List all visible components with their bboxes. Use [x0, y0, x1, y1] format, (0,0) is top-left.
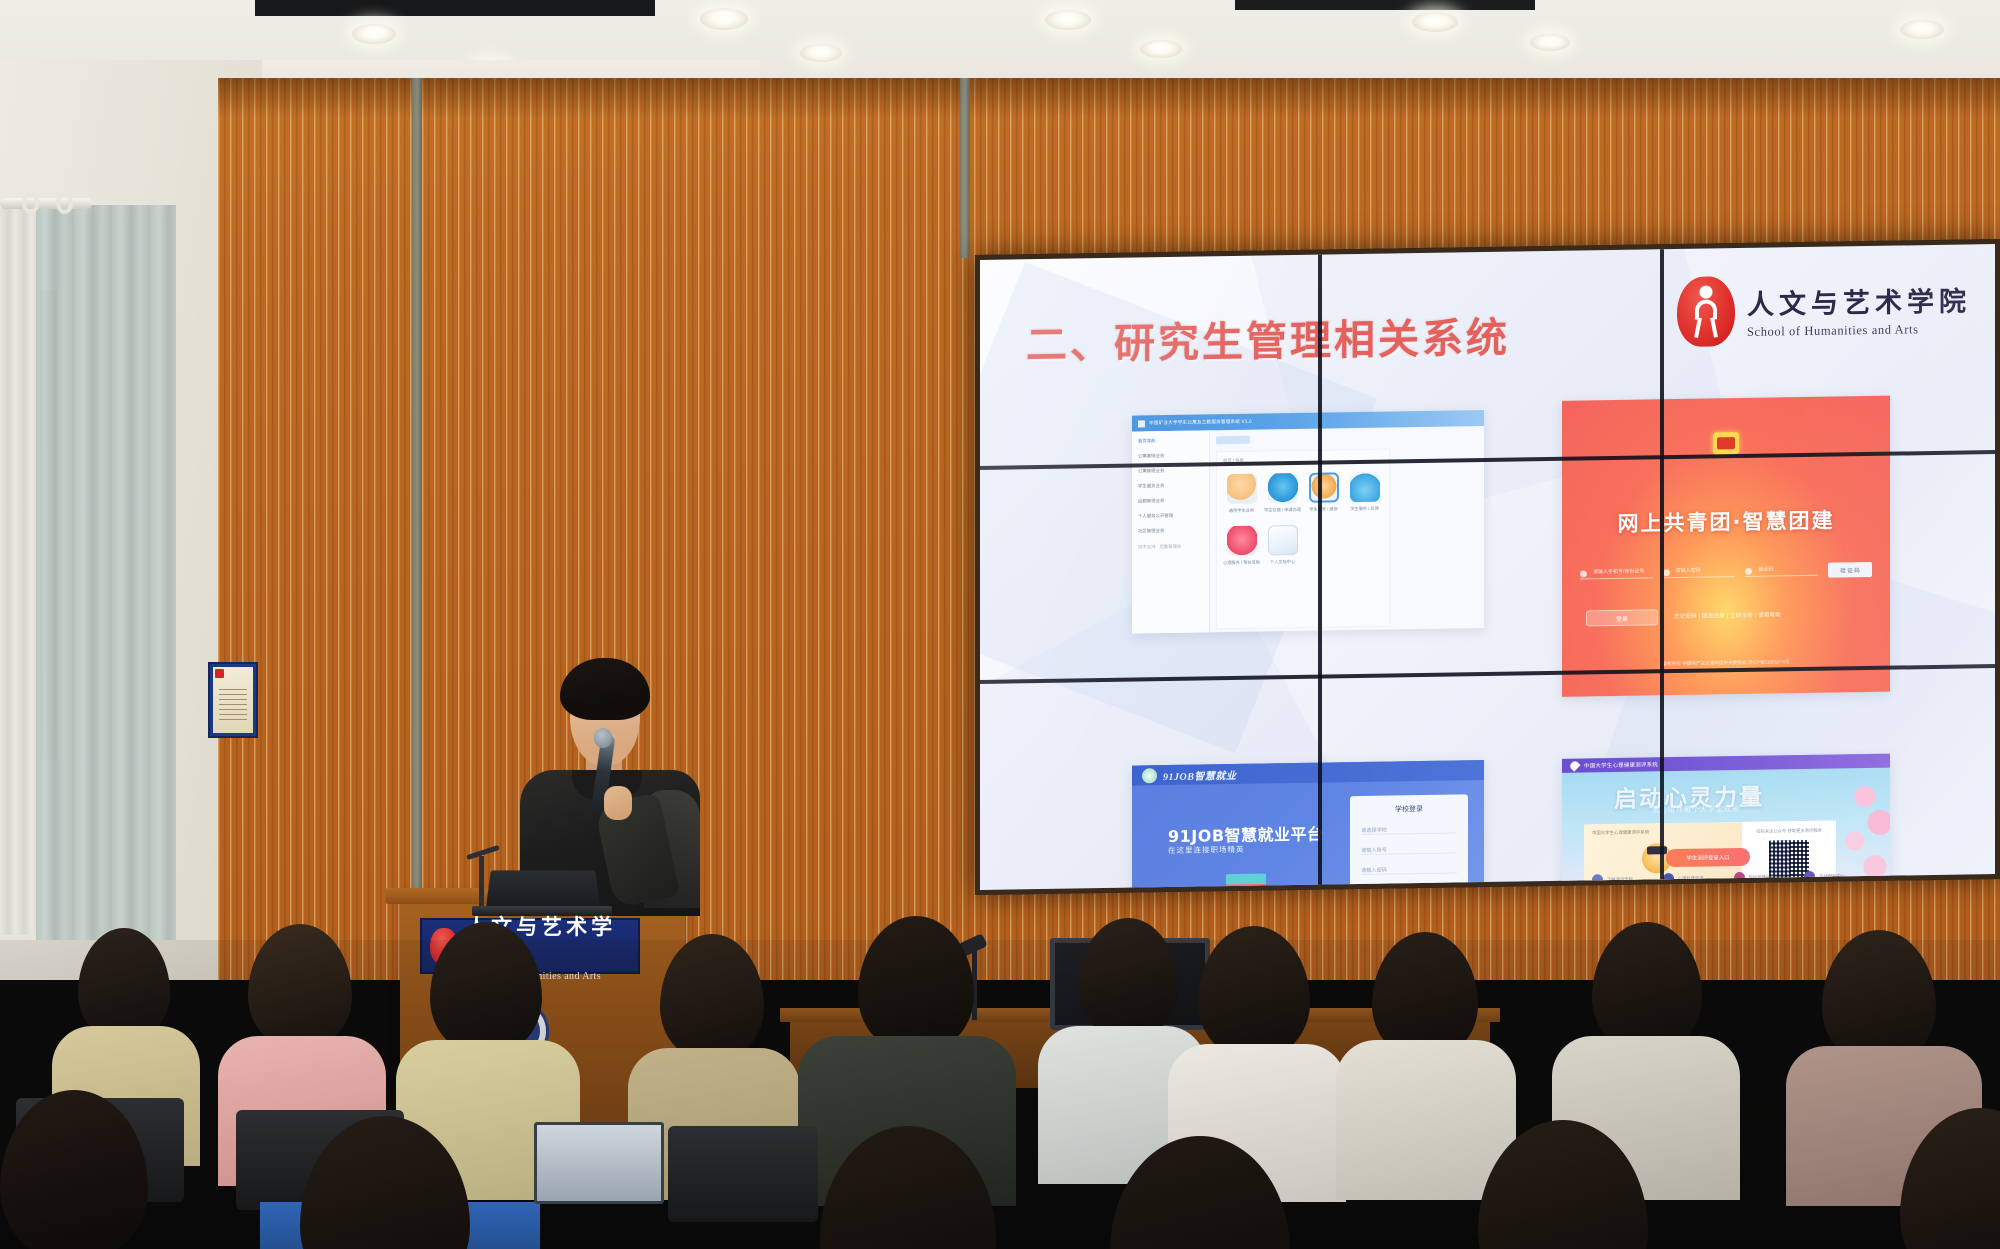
microphone-head-icon	[594, 728, 612, 748]
sidebar-item[interactable]: 公寓基础业务	[1138, 452, 1203, 459]
youth-league-emblem-icon	[1713, 432, 1739, 454]
laptop[interactable]	[534, 1122, 664, 1204]
brand-name: 91JOB智慧就业	[1163, 766, 1236, 782]
link-label: 了解测评流程	[1607, 876, 1633, 882]
login-row: 请输入手机号/身份证号 请输入密码 验证码 验 证 码	[1580, 562, 1872, 582]
school-login-card[interactable]: 学校登录 请选择学校 请输入账号 请输入密码 记住账号 忘记密码？ 登录	[1350, 794, 1468, 890]
ceiling-recess-dark-right	[1235, 0, 1535, 10]
tile-label: 通用学生业务	[1223, 508, 1260, 515]
audience-head	[1198, 926, 1310, 1058]
books-illustration-icon	[1226, 873, 1266, 889]
sidebar-item[interactable]: 后勤管理业务	[1138, 497, 1203, 504]
system-sidebar[interactable]: 首页导航 公寓基础业务 公寓管理业务 学生服务业务 后勤管理业务 个人服务公开管…	[1132, 430, 1210, 633]
speaker-hair	[560, 658, 650, 720]
password-input[interactable]: 请输入密码	[1361, 862, 1457, 875]
function-tile-grid: 通用学生业务 学生住宿 / 申请办理 学生报修 / 维修	[1223, 468, 1383, 571]
panel-91job-platform[interactable]: 91JOB智慧就业 91JOB智慧就业平台 在这里连接职场精英 学校登录 请选择…	[1132, 760, 1484, 890]
link-icon	[1592, 874, 1603, 885]
quick-link[interactable]: 了解测评流程	[1592, 874, 1633, 886]
panel-mental-health-system[interactable]: 中国大学生心理健康测评系统 启动心灵力量 用心陪伴每个大学生成长 中国大学生心理…	[1562, 754, 1890, 890]
school-logo-cn: 人文与艺术学院	[1747, 279, 1971, 322]
lecture-hall-scene: 二、研究生管理相关系统 人文与艺术学院 School of Humanities…	[0, 0, 2000, 1249]
tile-label: 学生报修 / 维修	[1305, 506, 1342, 513]
panel-youth-league-login[interactable]: 网上共青团·智慧团建 请输入手机号/身份证号 请输入密码 验证码 验 证 码 登…	[1562, 396, 1890, 697]
clerk-icon	[1227, 474, 1257, 504]
wall-seam	[960, 78, 970, 258]
sidebar-item[interactable]: 个人服务公开管理	[1138, 512, 1203, 519]
entry-right: 扫码关注公众号 获取更多测评服务	[1742, 821, 1836, 890]
password-input[interactable]: 请输入密码	[1663, 566, 1736, 578]
function-tile[interactable]: 个人文档中心	[1264, 521, 1301, 570]
function-tile[interactable]: 学生服务 / 反馈	[1346, 468, 1383, 517]
platform-heading: 91JOB智慧就业平台	[1168, 821, 1324, 847]
audience-head	[1822, 930, 1936, 1064]
rose-icon	[1227, 526, 1257, 556]
sidebar-item[interactable]: 首页导航	[1138, 437, 1203, 444]
link-icon	[1734, 872, 1745, 883]
system-main: 首页 / 导航 通用学生业务 学生住宿 / 申请办理	[1210, 427, 1396, 632]
link-label: 在线帮助中心	[1819, 873, 1845, 879]
login-button[interactable]: 登录	[1586, 609, 1658, 626]
function-tile[interactable]: 通用学生业务	[1223, 470, 1260, 519]
quick-link[interactable]: 心理科普知识	[1663, 873, 1704, 885]
audience-area	[0, 940, 2000, 1249]
downlight-icon	[1412, 12, 1458, 32]
downlight-icon	[1530, 34, 1570, 51]
function-card: 首页 / 导航 通用学生业务 学生住宿 / 申请办理	[1216, 449, 1390, 630]
sidebar-item[interactable]: 学生服务业务	[1138, 482, 1203, 489]
menu-icon	[1138, 420, 1145, 427]
quick-link[interactable]: 院校管理后台	[1734, 871, 1775, 883]
login-links[interactable]: 忘记密码 | 团员注册 | 立即注册 | 使用帮助	[1674, 610, 1781, 620]
username-input[interactable]: 请输入账号	[1361, 842, 1457, 855]
presentation-slide: 二、研究生管理相关系统 人文与艺术学院 School of Humanities…	[980, 244, 1995, 890]
link-icon	[1663, 873, 1674, 884]
sidebar-item[interactable]: 社区管理业务	[1138, 527, 1203, 534]
captcha-placeholder: 验证码	[1758, 566, 1773, 573]
downlight-icon	[1045, 10, 1091, 30]
laptop-illustration-icon	[1167, 886, 1238, 890]
captcha-input[interactable]: 验证码	[1745, 565, 1818, 577]
panel-student-affairs-system[interactable]: 中国矿业大学学生公寓及工勤服务管理系统 V1.0 首页导航 公寓基础业务 公寓管…	[1132, 410, 1484, 634]
quick-link[interactable]: 在线帮助中心	[1804, 870, 1845, 882]
brand-bar: 91JOB智慧就业	[1132, 760, 1484, 786]
illustration	[1168, 861, 1288, 890]
function-tile[interactable]: 心理服务 / 帮扶互助	[1223, 522, 1260, 571]
function-tile[interactable]: 学生住宿 / 申请办理	[1264, 469, 1301, 518]
downlight-icon	[1140, 40, 1182, 58]
curtain-ring-icon	[22, 192, 39, 214]
student-login-button[interactable]: 学生测评登录入口	[1666, 848, 1750, 867]
downlight-icon	[700, 8, 748, 30]
sidebar-item[interactable]: 公寓管理业务	[1138, 467, 1203, 474]
certificate-seal-icon	[215, 669, 224, 678]
heart-icon	[1568, 760, 1580, 772]
downlight-icon	[1900, 20, 1944, 39]
sub-slogan: 用心陪伴每个大学生成长	[1652, 804, 1740, 815]
link-label: 心理科普知识	[1678, 875, 1704, 881]
link-label: 院校管理后台	[1749, 874, 1775, 880]
system-title: 中国矿业大学学生公寓及工勤服务管理系统 V1.0	[1149, 419, 1252, 427]
sidebar-footer: 技术支持 · 后勤管理处	[1138, 543, 1203, 550]
curtain[interactable]	[36, 205, 176, 940]
tile-label: 心理服务 / 帮扶互助	[1223, 560, 1260, 567]
framed-certificate	[208, 662, 258, 738]
qr-caption: 扫码关注公众号 获取更多测评服务	[1749, 828, 1829, 835]
curtain-ring-icon	[56, 192, 73, 214]
chat-icon	[1350, 472, 1380, 502]
wall-seam	[412, 78, 422, 980]
podium-mic-stand	[479, 856, 484, 908]
login-card-title: 学校登录	[1361, 803, 1457, 815]
audience-head	[660, 934, 764, 1060]
active-tab[interactable]	[1216, 436, 1250, 445]
chair-back	[668, 1126, 818, 1222]
school-logo-en: School of Humanities and Arts	[1747, 321, 1971, 340]
youth-league-title: 网上共青团·智慧团建	[1562, 504, 1890, 539]
curtain-edge	[0, 205, 40, 935]
platform-subheading: 在这里连接职场精英	[1168, 844, 1245, 856]
tile-label: 个人文档中心	[1264, 559, 1301, 566]
account-input[interactable]: 请输入手机号/身份证号	[1580, 567, 1653, 579]
slide-title: 二、研究生管理相关系统	[1026, 304, 1510, 372]
audience-head	[248, 924, 352, 1048]
captcha-image[interactable]: 验 证 码	[1828, 562, 1872, 578]
document-icon	[1268, 525, 1298, 555]
school-logo: 人文与艺术学院 School of Humanities and Arts	[1677, 272, 1971, 347]
downlight-icon	[800, 44, 842, 62]
audience-head	[1592, 922, 1702, 1052]
job-logo-icon	[1142, 768, 1157, 783]
ceiling-recess-dark	[255, 0, 655, 16]
school-logo-mark-icon	[1677, 276, 1735, 347]
video-wall-bezel	[1318, 255, 1322, 885]
system-title: 中国大学生心理健康测评系统	[1584, 760, 1658, 769]
downlight-icon	[352, 24, 396, 44]
certificate-text-lines	[219, 689, 247, 724]
cycle-icon	[1309, 472, 1339, 502]
magnifier-icon	[1268, 473, 1298, 503]
audience-head	[78, 928, 170, 1040]
speaker-hand	[604, 786, 632, 820]
school-select[interactable]: 请选择学校	[1361, 822, 1457, 835]
link-icon	[1804, 871, 1815, 882]
curtain-rod	[0, 198, 92, 209]
wall-top-shadow	[218, 78, 2000, 118]
audience-head	[430, 922, 542, 1054]
password-placeholder: 请输入密码	[1676, 567, 1701, 574]
function-tile[interactable]: 学生报修 / 维修	[1305, 468, 1342, 517]
tile-label: 学生服务 / 反馈	[1346, 506, 1383, 513]
video-wall[interactable]: 二、研究生管理相关系统 人文与艺术学院 School of Humanities…	[975, 239, 2000, 895]
tile-label: 学生住宿 / 申请办理	[1264, 507, 1301, 514]
video-wall-bezel	[1660, 249, 1664, 879]
account-placeholder: 请输入手机号/身份证号	[1593, 568, 1644, 576]
person-illustration-icon	[1220, 888, 1229, 890]
